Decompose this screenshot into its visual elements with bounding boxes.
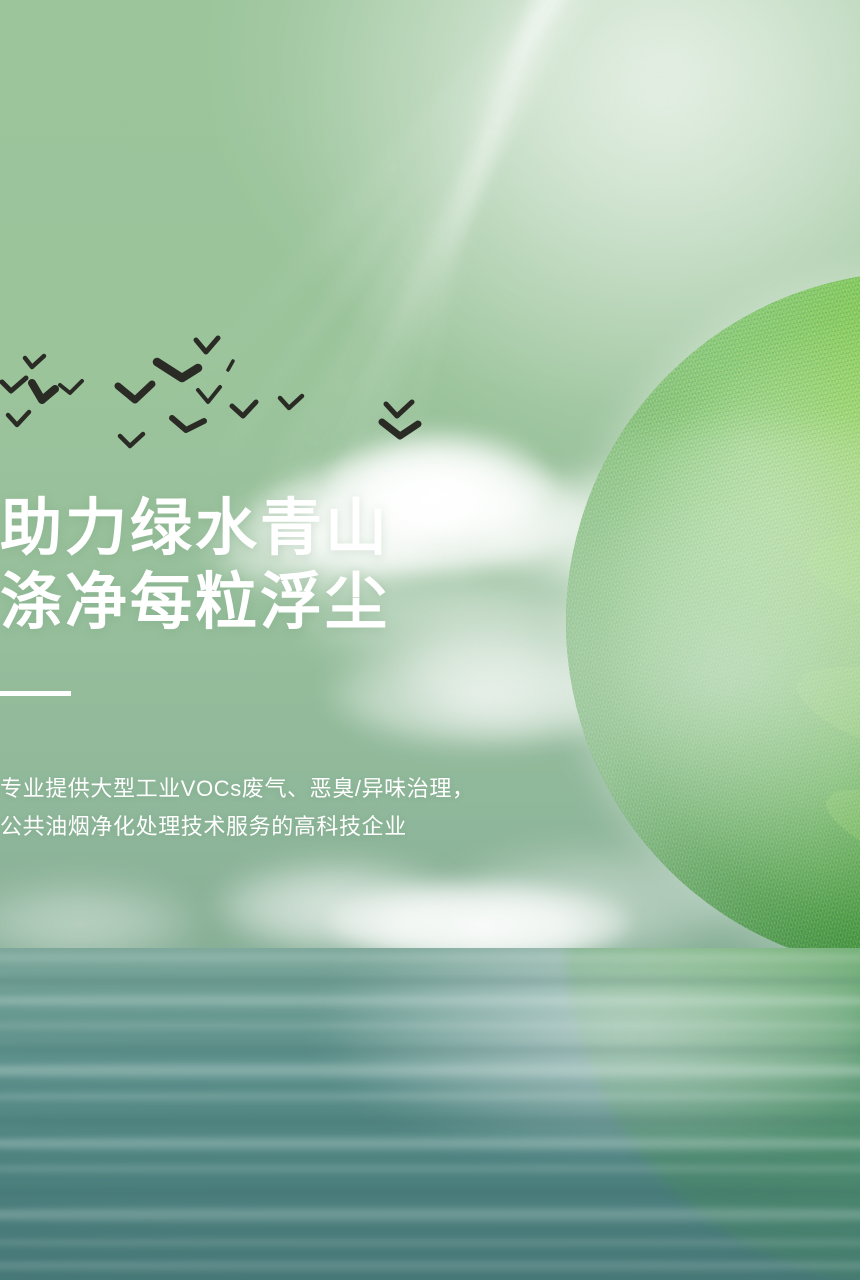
bird-icon [8, 412, 29, 425]
birds-flock [0, 330, 470, 460]
bird-icon [32, 383, 55, 400]
bird-icon [196, 338, 218, 352]
water-surface [0, 948, 860, 1280]
subtitle-line-2: 公共油烟净化处理技术服务的高科技企业 [0, 808, 475, 846]
bird-icon [60, 381, 82, 393]
headline-line-1: 助力绿水青山 [0, 492, 390, 566]
subtitle-line-1: 专业提供大型工业VOCs废气、恶臭/异味治理， [0, 770, 475, 808]
bird-icon [157, 362, 198, 378]
subtitle: 专业提供大型工业VOCs废气、恶臭/异味治理， 公共油烟净化处理技术服务的高科技… [0, 770, 475, 846]
bird-icon [25, 356, 44, 367]
bird-icon [118, 384, 152, 400]
bird-icon [382, 422, 418, 436]
bird-icon [198, 387, 220, 402]
headline: 助力绿水青山 涤净每粒浮尘 [0, 492, 390, 640]
bird-icon [232, 402, 256, 416]
bird-icon [280, 396, 302, 408]
bird-icon [172, 418, 204, 430]
bird-icon [2, 378, 26, 391]
bird-icon [386, 402, 412, 416]
bird-icon [120, 434, 143, 446]
headline-divider [0, 691, 71, 696]
hero-poster: 助力绿水青山 涤净每粒浮尘 专业提供大型工业VOCs废气、恶臭/异味治理， 公共… [0, 0, 860, 1280]
bird-icon [228, 361, 233, 370]
headline-line-2: 涤净每粒浮尘 [0, 566, 390, 640]
earth-globe [566, 272, 860, 972]
